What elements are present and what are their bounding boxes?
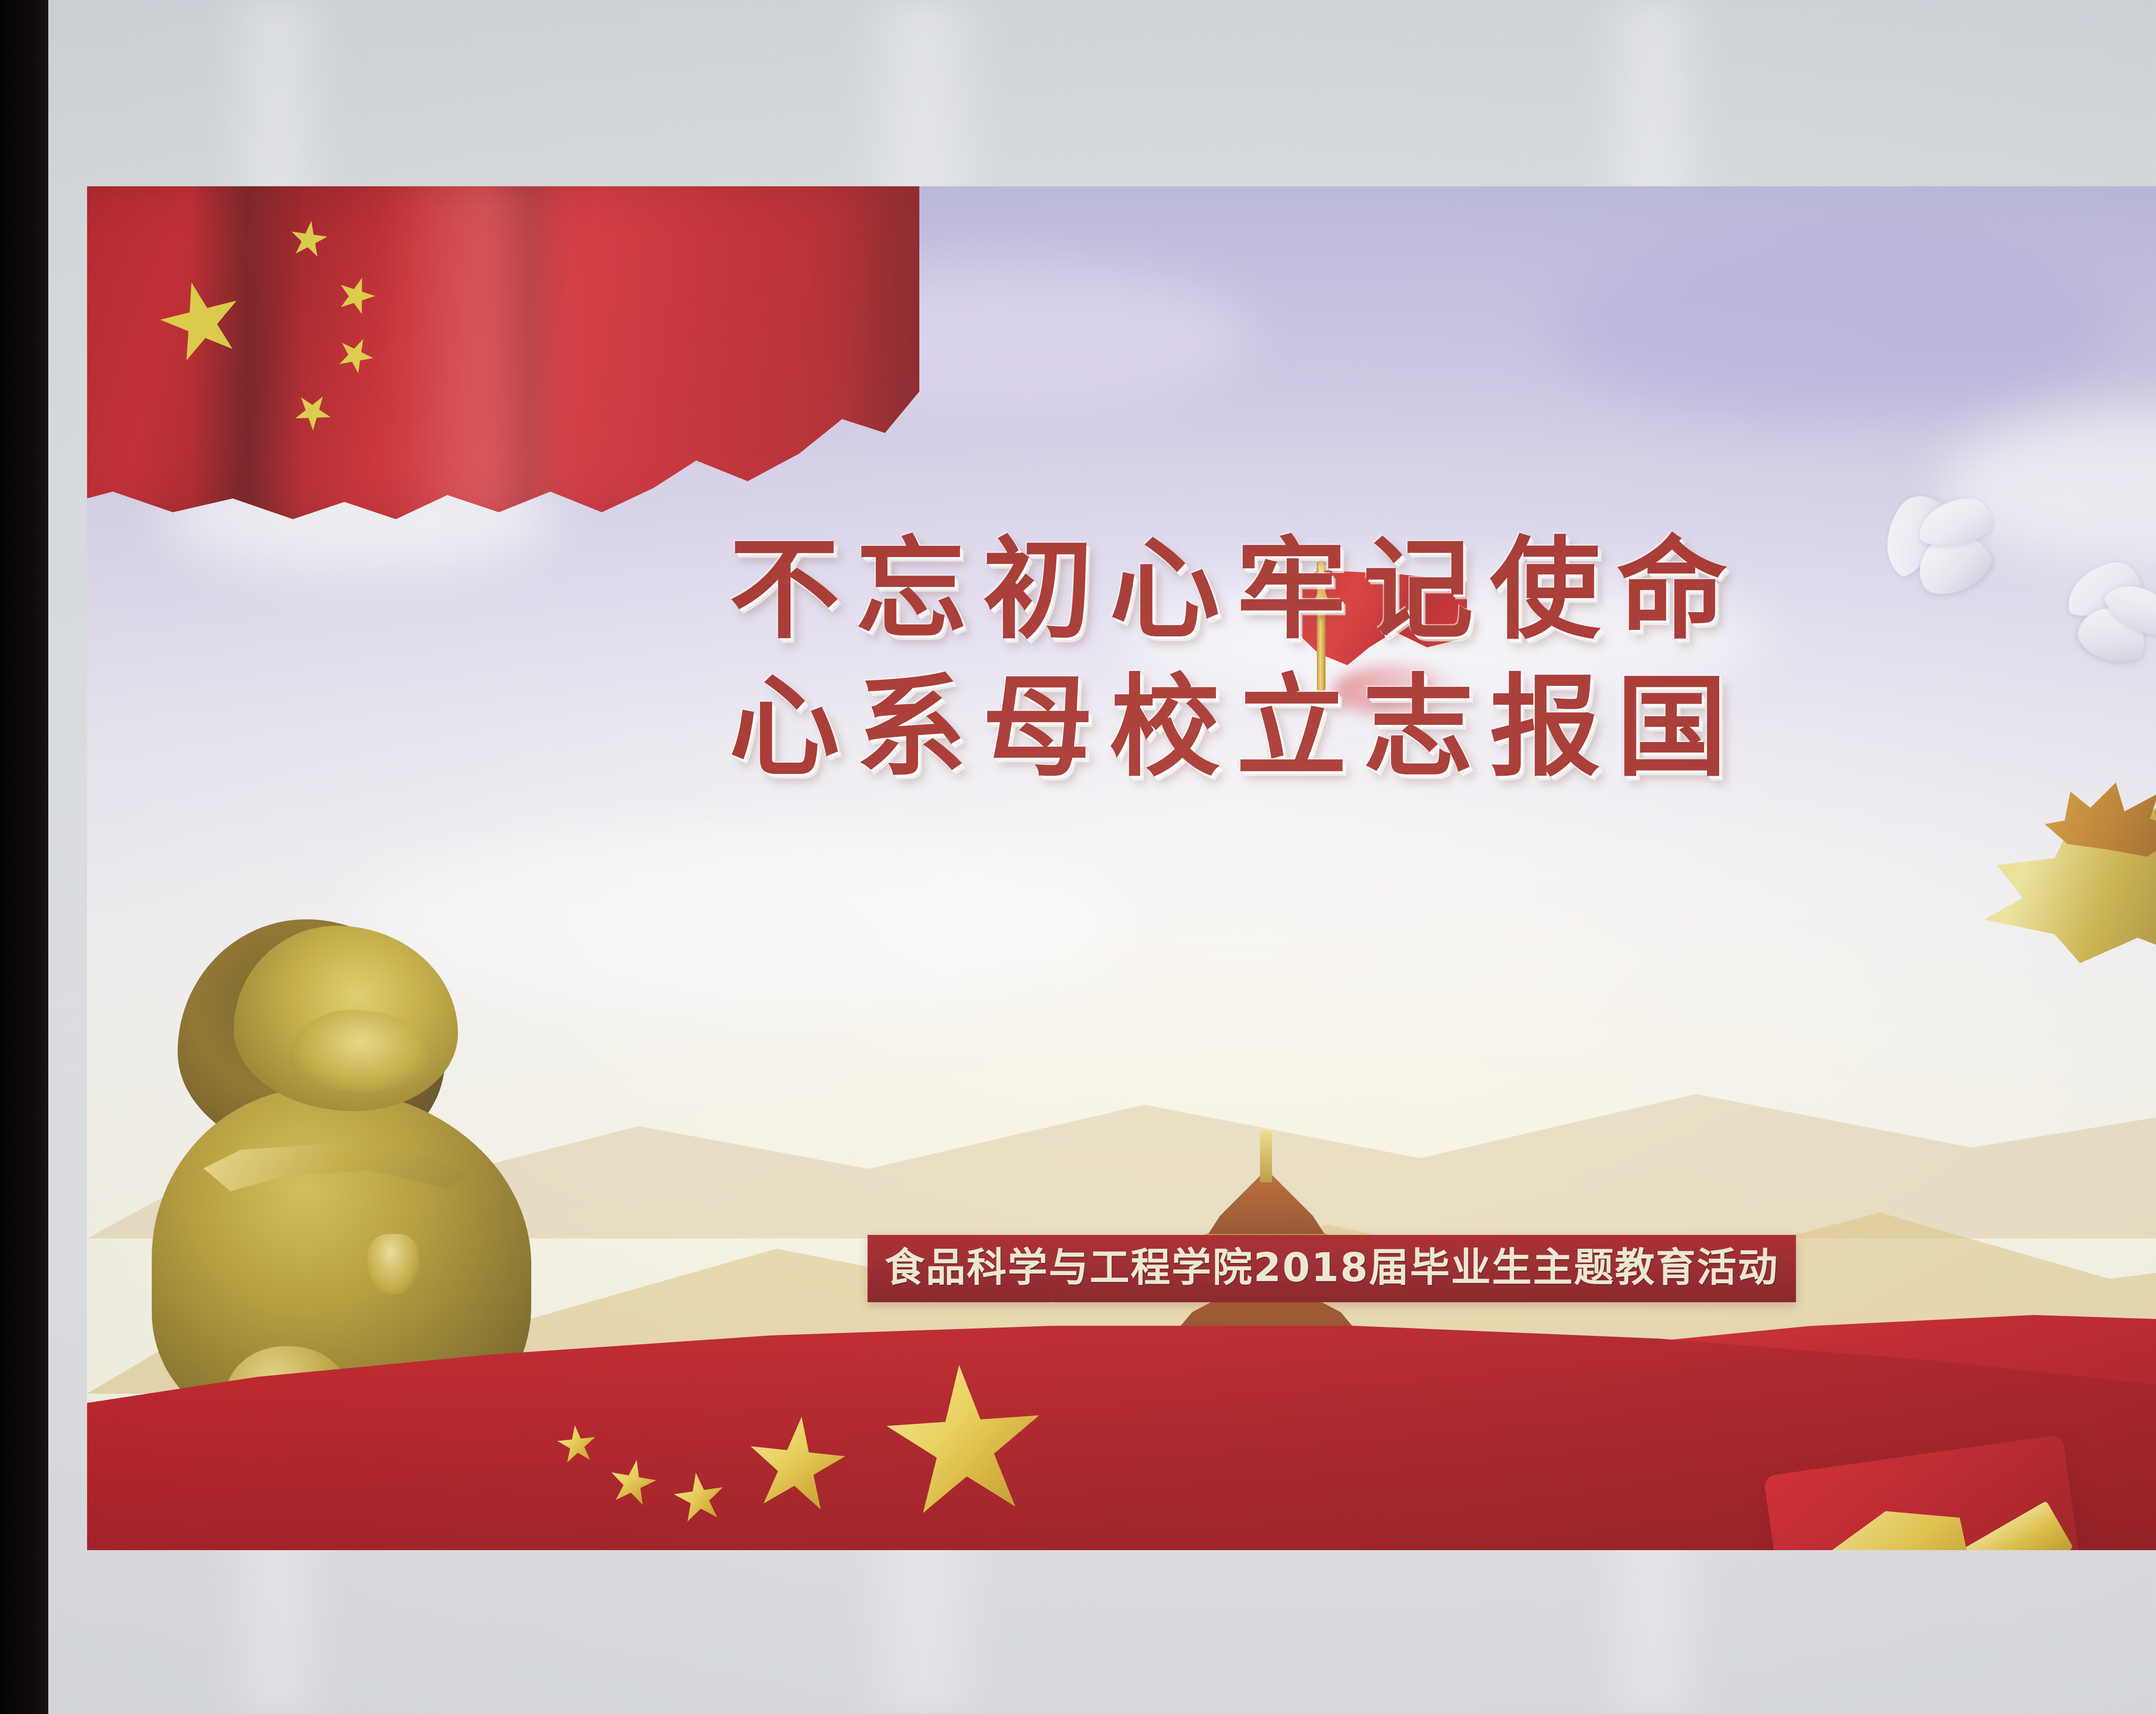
flag-fold: [191, 186, 303, 523]
golden-star-icon: [742, 1412, 851, 1521]
flag-highlight: [389, 186, 570, 523]
china-flag: [87, 186, 919, 523]
title-line-2: 心系母校立志报国: [87, 669, 2156, 786]
golden-star-icon: [670, 1469, 729, 1528]
flag-star-icon: [332, 272, 380, 320]
title-line-1: 不忘初心牢记使命: [87, 531, 2156, 648]
five-golden-stars: [557, 1317, 1096, 1524]
flag-star-icon: [331, 331, 379, 379]
subtitle-banner: 食品科学与工程学院2018届毕业生主题教育活动: [868, 1235, 1796, 1302]
cloud: [1553, 238, 2114, 419]
photograph-of-projected-slide: 不忘初心牢记使命 心系母校立志报国 食品科学与工程学院2018届毕业生主题教育活…: [0, 0, 2156, 1714]
golden-star-icon: [880, 1360, 1050, 1530]
golden-star-icon: [555, 1423, 599, 1466]
temple-spire: [1260, 1131, 1272, 1182]
projection-screen: 不忘初心牢记使命 心系母校立志报国 食品科学与工程学院2018届毕业生主题教育活…: [48, 0, 2156, 1714]
lion-bell: [367, 1234, 419, 1294]
subtitle-text: 食品科学与工程学院2018届毕业生主题教育活动: [885, 1248, 1779, 1288]
golden-star-icon: [605, 1456, 660, 1510]
slide-title: 不忘初心牢记使命 心系母校立志报国: [87, 531, 2156, 786]
cpc-hammer-sickle-emblem: [1743, 1424, 2156, 1550]
ppt-slide: 不忘初心牢记使命 心系母校立志报国 食品科学与工程学院2018届毕业生主题教育活…: [87, 186, 2156, 1550]
room-wall-left: [0, 0, 48, 1714]
